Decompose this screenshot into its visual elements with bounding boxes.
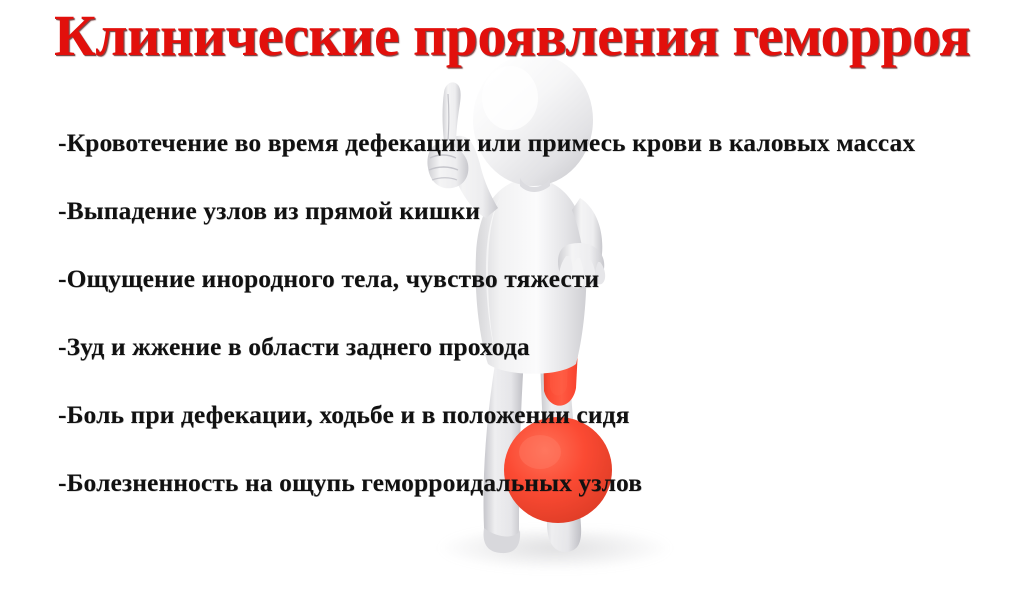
list-item: -Кровотечение во время дефекации или при… <box>58 118 1018 186</box>
page-title: Клинические проявления геморроя <box>3 6 1022 66</box>
list-item: -Болезненность на ощупь геморроидальных … <box>58 458 1018 526</box>
slide-canvas: Клинические проявления геморроя <box>0 0 1024 595</box>
symptom-list: -Кровотечение во время дефекации или при… <box>58 118 1018 526</box>
list-item: -Боль при дефекации, ходьбе и в положени… <box>58 390 1018 458</box>
list-item: -Выпадение узлов из прямой кишки <box>58 186 1018 254</box>
list-item: -Ощущение инородного тела, чувство тяжес… <box>58 254 1018 322</box>
list-item: -Зуд и жжение в области заднего прохода <box>58 322 1018 390</box>
